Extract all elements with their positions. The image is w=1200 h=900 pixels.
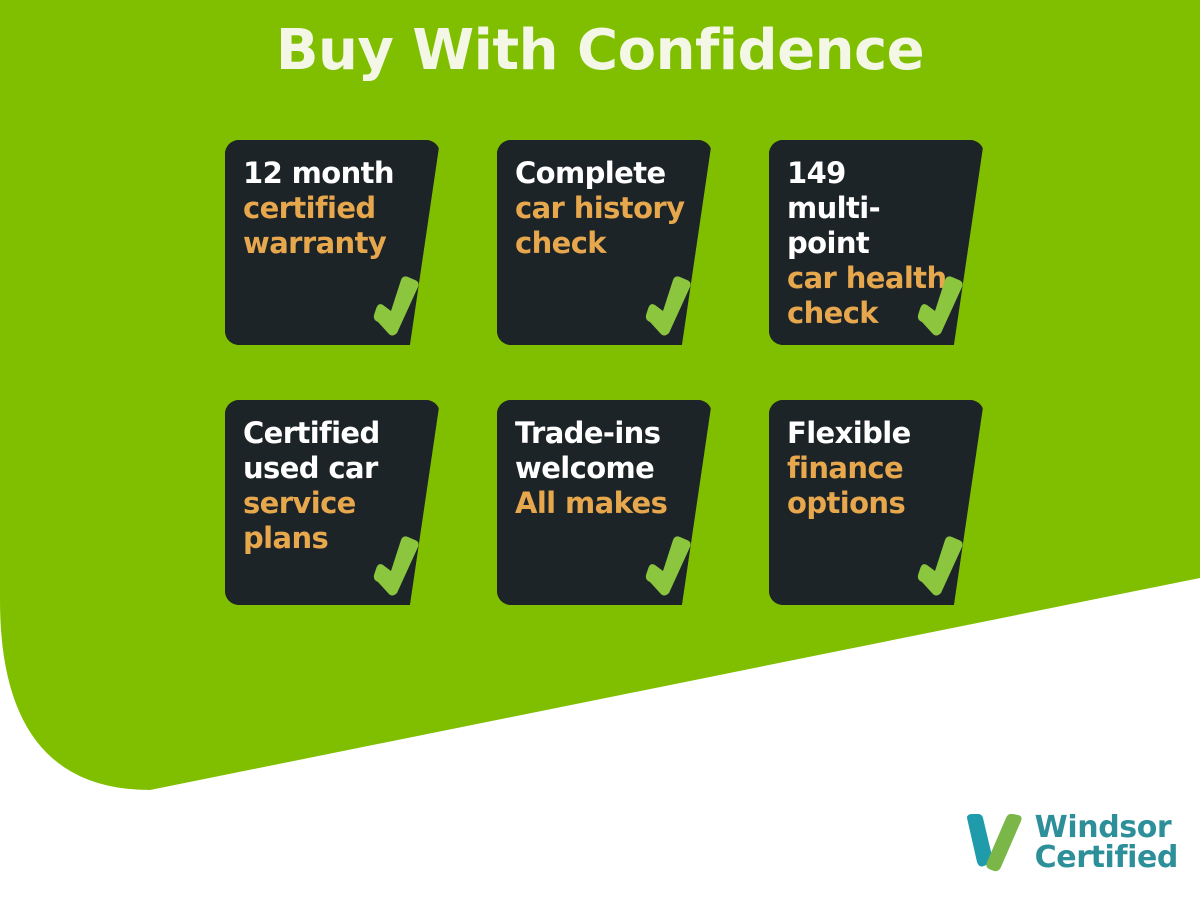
card-line-orange-2: options [787, 486, 958, 521]
card-line-orange-1: car history [515, 191, 686, 226]
green-tick-icon [914, 271, 966, 341]
logo-line-certified: Certified [1035, 843, 1178, 874]
benefit-card-multi-point-health-check[interactable]: 149 multi-point car health check [769, 140, 984, 345]
card-line-orange-1: service [243, 486, 414, 521]
green-tick-icon [642, 531, 694, 601]
card-line-orange-1: certified [243, 191, 414, 226]
page-title: Buy With Confidence [0, 22, 1200, 81]
card-text: Complete car history check [515, 156, 686, 261]
benefit-card-certified-warranty[interactable]: 12 month certified warranty [225, 140, 440, 345]
card-line-orange-2: check [515, 226, 686, 261]
logo-wordmark: Windsor Certified [1035, 813, 1178, 874]
benefit-card-grid: 12 month certified warranty Complete car… [225, 140, 985, 605]
card-line-white-1: Trade-ins [515, 416, 686, 451]
card-line-white-1: Flexible [787, 416, 958, 451]
card-line-white-2: multi-point [787, 191, 958, 261]
card-text: Flexible finance options [787, 416, 958, 521]
card-line-orange-1: All makes [515, 486, 686, 521]
benefit-card-car-history-check[interactable]: Complete car history check [497, 140, 712, 345]
benefit-card-service-plans[interactable]: Certified used car service plans [225, 400, 440, 605]
card-line-white-2: used car [243, 451, 414, 486]
windsor-certified-logo[interactable]: Windsor Certified [963, 813, 1178, 874]
green-tick-icon [370, 531, 422, 601]
green-tick-icon [642, 271, 694, 341]
card-line-white-1: 12 month [243, 156, 414, 191]
green-tick-icon [370, 271, 422, 341]
windsor-w-icon [963, 814, 1025, 872]
card-line-white-1: 149 [787, 156, 958, 191]
benefit-card-finance-options[interactable]: Flexible finance options [769, 400, 984, 605]
poster-canvas: Buy With Confidence 12 month certified w… [0, 0, 1200, 900]
card-line-orange-2: warranty [243, 226, 414, 261]
benefit-card-trade-ins[interactable]: Trade-ins welcome All makes [497, 400, 712, 605]
card-line-white-1: Certified [243, 416, 414, 451]
card-text: Trade-ins welcome All makes [515, 416, 686, 521]
green-tick-icon [914, 531, 966, 601]
card-line-orange-1: finance [787, 451, 958, 486]
card-text: 12 month certified warranty [243, 156, 414, 261]
logo-line-windsor: Windsor [1035, 813, 1178, 844]
card-line-white-1: Complete [515, 156, 686, 191]
card-line-white-2: welcome [515, 451, 686, 486]
